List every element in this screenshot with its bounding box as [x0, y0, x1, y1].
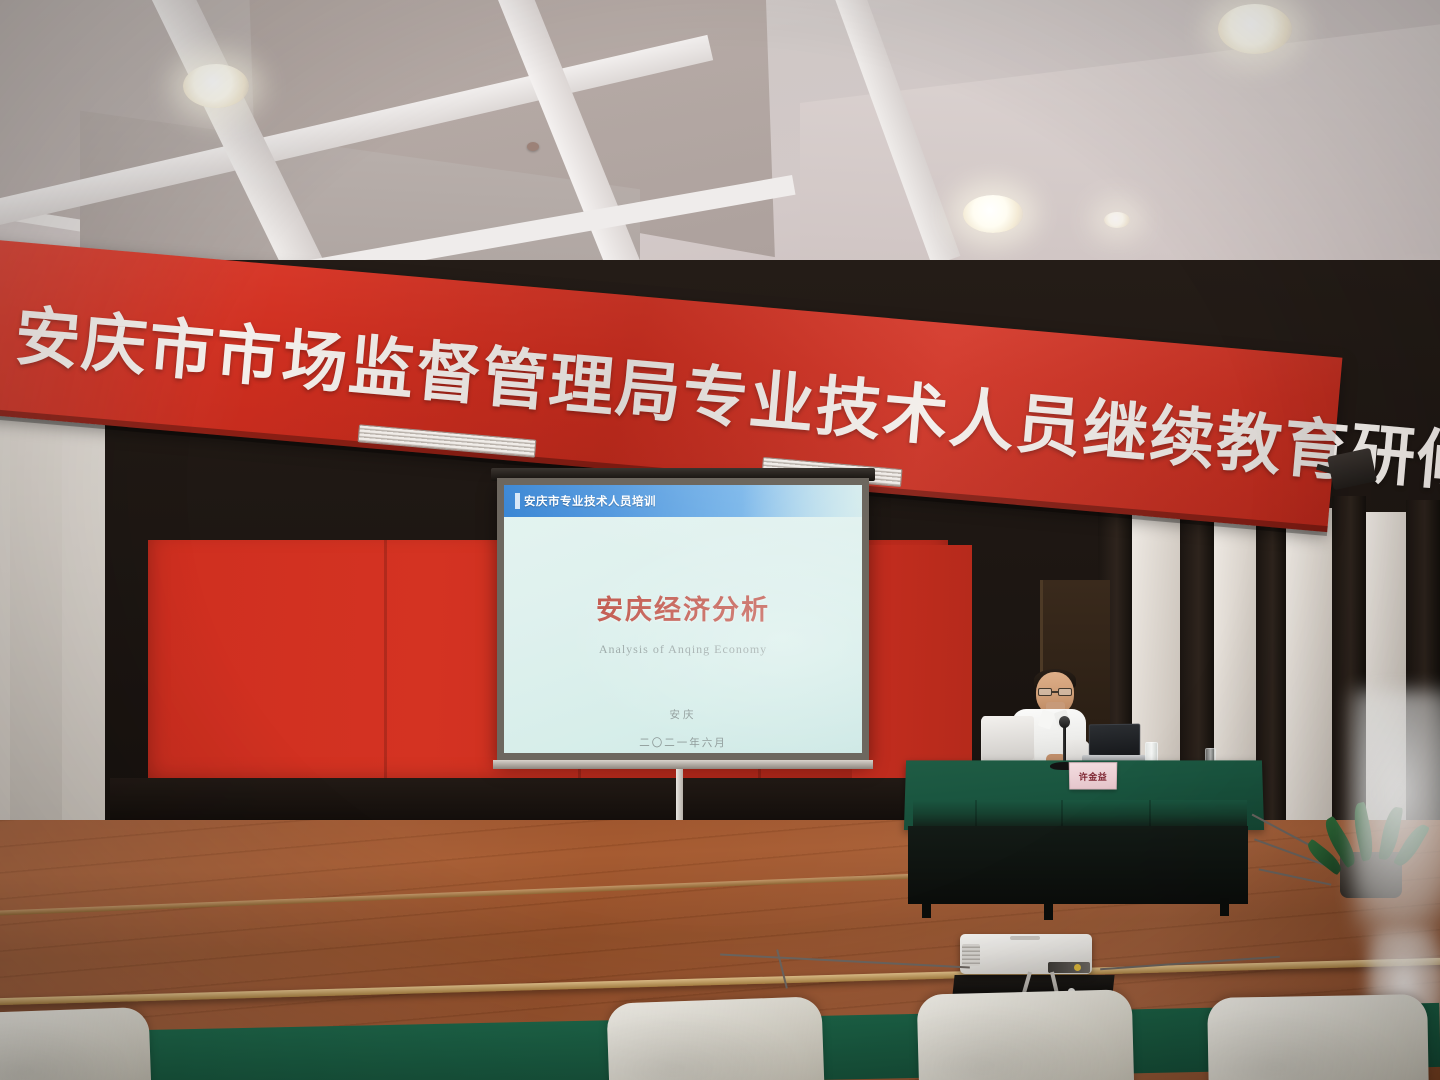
projector-control-panel [1010, 936, 1040, 940]
laptop-icon [982, 716, 1034, 760]
downlight-icon [1218, 4, 1292, 54]
audience-chair [917, 989, 1135, 1080]
table-leg [922, 900, 931, 918]
wall-panel-white-left-inner [10, 420, 62, 880]
screen-bottom-bar [493, 760, 873, 769]
red-stage-backdrop-right [852, 545, 972, 780]
slide-header-band: 安庆市专业技术人员培训 [504, 485, 862, 517]
microphone-head [1059, 716, 1070, 728]
slide-date: 二〇二一年六月 [504, 735, 862, 750]
audience-chair [1207, 994, 1429, 1080]
downlight-icon [963, 195, 1023, 233]
slide-subtitle: Analysis of Anqing Economy [504, 642, 862, 657]
presentation-slide: 安庆市专业技术人员培训 安庆经济分析 Analysis of Anqing Ec… [504, 485, 862, 753]
conference-hall-photo: 安庆市市场监督管理局专业技术人员继续教育研修班 安庆市专业技术人员培训 安庆经济… [0, 0, 1440, 1080]
table-leg [1044, 902, 1053, 920]
slide-header-text: 安庆市专业技术人员培训 [524, 493, 656, 509]
slide-title: 安庆经济分析 [504, 588, 862, 627]
downlight-icon [183, 64, 249, 108]
stage-plinth [110, 778, 990, 824]
presidium-name-card: 许金益 [1069, 762, 1118, 789]
slide-header-fade [742, 485, 862, 517]
slide-organization: 安庆 [504, 707, 862, 722]
name-card-text: 许金益 [1079, 770, 1108, 783]
downlight-icon [1104, 212, 1130, 228]
foreground-blur-object [1352, 690, 1440, 950]
table-leg [1220, 898, 1229, 916]
projector-port-yellow [1074, 964, 1081, 971]
glasses-icon [1038, 688, 1072, 696]
audience-chair [0, 1007, 151, 1080]
slide-header-mark [515, 493, 520, 509]
projector-lens [962, 944, 980, 966]
presidium-table [908, 826, 1248, 904]
laptop-icon [1089, 724, 1140, 757]
sprinkler-icon [527, 142, 539, 151]
screen-frame: 安庆市专业技术人员培训 安庆经济分析 Analysis of Anqing Ec… [497, 478, 869, 760]
projection-screen: 安庆市专业技术人员培训 安庆经济分析 Analysis of Anqing Ec… [497, 478, 869, 768]
audience-chair [606, 996, 824, 1080]
